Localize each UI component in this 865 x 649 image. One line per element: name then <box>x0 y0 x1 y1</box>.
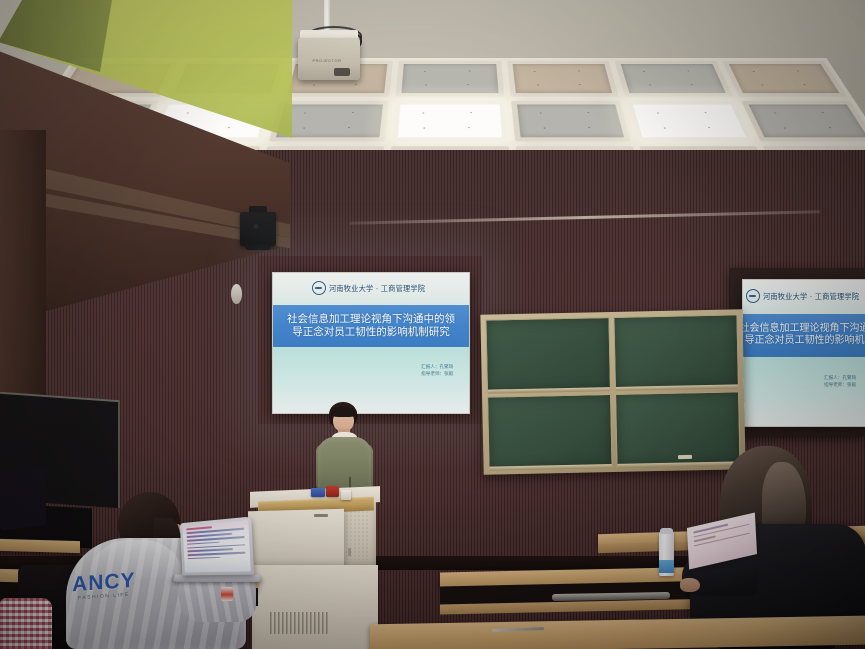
ceiling-panel-fastener <box>425 84 427 85</box>
doc-line <box>188 552 246 556</box>
ceiling-panel-fastener <box>578 71 580 72</box>
secondary-projection-screen: 河南牧业大学 · 工商管理学院 社会信息加工理论视角下沟通 导正念对员工韧性的影… <box>742 279 865 427</box>
slide-title-line-1-secondary: 社会信息加工理论视角下沟通 <box>742 323 865 335</box>
chalk-tray <box>488 387 610 394</box>
ceiling-acoustic-panel <box>614 61 732 97</box>
chalk-tray <box>490 464 612 471</box>
ceiling-panel-fastener <box>534 71 536 72</box>
ceiling-panel-fastener <box>579 84 581 85</box>
ceiling-panel-fastener <box>352 112 354 113</box>
ceiling-panel-fastener <box>422 112 424 113</box>
ceiling-panel-fastener <box>537 84 539 85</box>
ceiling-panel-fastener <box>797 71 799 72</box>
slide-logo-bar-secondary: 河南牧业大学 · 工商管理学院 <box>743 280 865 312</box>
ceiling-acoustic-panel <box>396 61 504 97</box>
chair-back-left-far <box>0 468 46 531</box>
slide-advisor-label-secondary: 指导老师：张毅 <box>824 383 856 390</box>
ceiling-panel-fastener <box>304 112 306 113</box>
ceiling-panel-fastener <box>657 112 659 113</box>
ceiling-panel-fastener <box>753 71 755 72</box>
doc-line <box>187 544 245 549</box>
slide-logo-text: 河南牧业大学 · 工商管理学院 <box>329 283 425 294</box>
ceiling-panel-fastener <box>539 112 541 113</box>
water-bottle-cap[interactable] <box>660 528 673 534</box>
blackboard-panel <box>485 317 611 393</box>
ceiling-panel-fastener <box>228 127 230 128</box>
blackboard-panel <box>613 314 739 390</box>
presenter-fringe <box>330 407 357 417</box>
slide-title-line-1: 社会信息加工理论视角下沟通中的领 <box>287 313 455 326</box>
ceiling-panel-fastener <box>348 127 350 128</box>
ceiling-panel-fastener <box>424 71 426 72</box>
laptop-screen-document[interactable] <box>183 520 251 573</box>
ceiling-panel-fastener <box>544 128 546 129</box>
ceiling-panel-fastener <box>762 84 764 85</box>
podium-item-blue-box <box>311 488 325 497</box>
ceiling-panel-fastener <box>709 127 711 128</box>
doc-line <box>188 557 221 560</box>
university-seal-icon-secondary <box>746 289 760 303</box>
ceiling-panel-fastener <box>688 71 690 72</box>
classroom-photo-scene: PROJECTOR 河南牧业大学 · 工商管理学院 社会信息加工理论视角下沟通中… <box>0 0 865 649</box>
slide-title-band: 社会信息加工理论视角下沟通中的领 导正念对员工韧性的影响机制研究 <box>273 305 469 347</box>
ceiling-acoustic-panel <box>511 101 631 142</box>
speaker-base <box>245 244 271 250</box>
slide-title-line-2: 导正念对员工韧性的影响机制研究 <box>292 326 450 339</box>
slide-meta-block: 汇报人：孔繁琦 指导老师：张毅 <box>421 365 453 379</box>
podium-vent-grille <box>270 612 328 634</box>
ceiling-panel-fastener <box>822 112 824 113</box>
ceiling-panel-fastener <box>588 127 590 128</box>
doc-line <box>187 541 219 545</box>
ceiling-panel-fastener <box>643 71 645 72</box>
ceiling-panel-fastener <box>469 71 471 72</box>
ceiling-panel-fastener <box>187 112 189 113</box>
ceiling-panel-fastener <box>88 84 90 85</box>
ceiling-panel-fastener <box>829 127 831 128</box>
ceiling-panel-fastener <box>467 84 469 85</box>
ceiling-panel-fastener <box>313 84 315 85</box>
student-right-hand <box>680 578 700 592</box>
ceiling-panel-fastener <box>468 127 470 128</box>
presentation-slide-secondary: 河南牧业大学 · 工商管理学院 社会信息加工理论视角下沟通 导正念对员工韧性的影… <box>743 280 865 426</box>
speaker-cone-icon <box>252 222 260 230</box>
projector-lens-icon <box>334 68 350 76</box>
chalk-tray <box>616 384 738 391</box>
presenter-speaker <box>312 402 376 498</box>
ceiling-light-panel <box>626 101 754 142</box>
ceiling-panel-fastener <box>691 84 693 85</box>
ceiling-panel-fastener <box>470 112 472 113</box>
ceiling-panel-fastener <box>774 112 776 113</box>
blackboard-panel <box>487 394 613 470</box>
ceiling-panel-fastener <box>649 84 651 85</box>
slide-logo-bar: 河南牧业大学 · 工商管理学院 <box>273 273 469 304</box>
wall-fixture-oval <box>231 284 242 304</box>
slide-logo-text-secondary: 河南牧业大学 · 工商管理学院 <box>763 291 859 302</box>
ceiling-panel-fastener <box>303 128 305 129</box>
water-bottle-label <box>659 560 674 573</box>
ceiling-panel-fastener <box>355 84 357 85</box>
ceiling-acoustic-panel <box>741 101 865 142</box>
ceiling-panel-fastener <box>664 128 666 129</box>
ceiling-panel-fastener <box>423 128 425 129</box>
podium-item-white-cup <box>341 490 351 500</box>
ceiling-acoustic-panel <box>722 61 847 97</box>
laptop-lid <box>180 517 254 576</box>
podium-handle[interactable] <box>314 514 328 517</box>
slide-advisor-label: 指导老师：张毅 <box>421 372 453 379</box>
ceiling-panel-fastener <box>587 112 589 113</box>
projector-label: PROJECTOR <box>310 58 344 63</box>
ceiling-panel-fastener <box>704 112 706 113</box>
slide-title-band-secondary: 社会信息加工理论视角下沟通 导正念对员工韧性的影响机 <box>743 314 865 358</box>
podium-base <box>252 565 378 649</box>
ceiling-acoustic-panel <box>507 61 619 97</box>
ceiling-panel-fastener <box>784 128 786 129</box>
university-seal-icon <box>312 281 326 295</box>
student-laptop[interactable] <box>178 520 260 596</box>
presentation-slide: 河南牧业大学 · 工商管理学院 社会信息加工理论视角下沟通中的领 导正念对员工韧… <box>273 273 469 413</box>
ceiling-panel-fastener <box>803 84 805 85</box>
slide-title-line-2-secondary: 导正念对员工韧性的影响机 <box>745 335 865 347</box>
podium-item-red-box <box>326 486 339 497</box>
slide-meta-block-secondary: 汇报人：孔繁琦 指导老师：张毅 <box>824 376 856 390</box>
ceiling-projector: PROJECTOR <box>298 38 360 80</box>
plaid-cloth-item <box>0 598 52 649</box>
ceiling-light-panel <box>392 101 508 142</box>
laptop-keyboard-base[interactable] <box>173 574 262 581</box>
podium-latch[interactable] <box>348 548 351 556</box>
main-projection-screen: 河南牧业大学 · 工商管理学院 社会信息加工理论视角下沟通中的领 导正念对员工韧… <box>272 272 470 414</box>
